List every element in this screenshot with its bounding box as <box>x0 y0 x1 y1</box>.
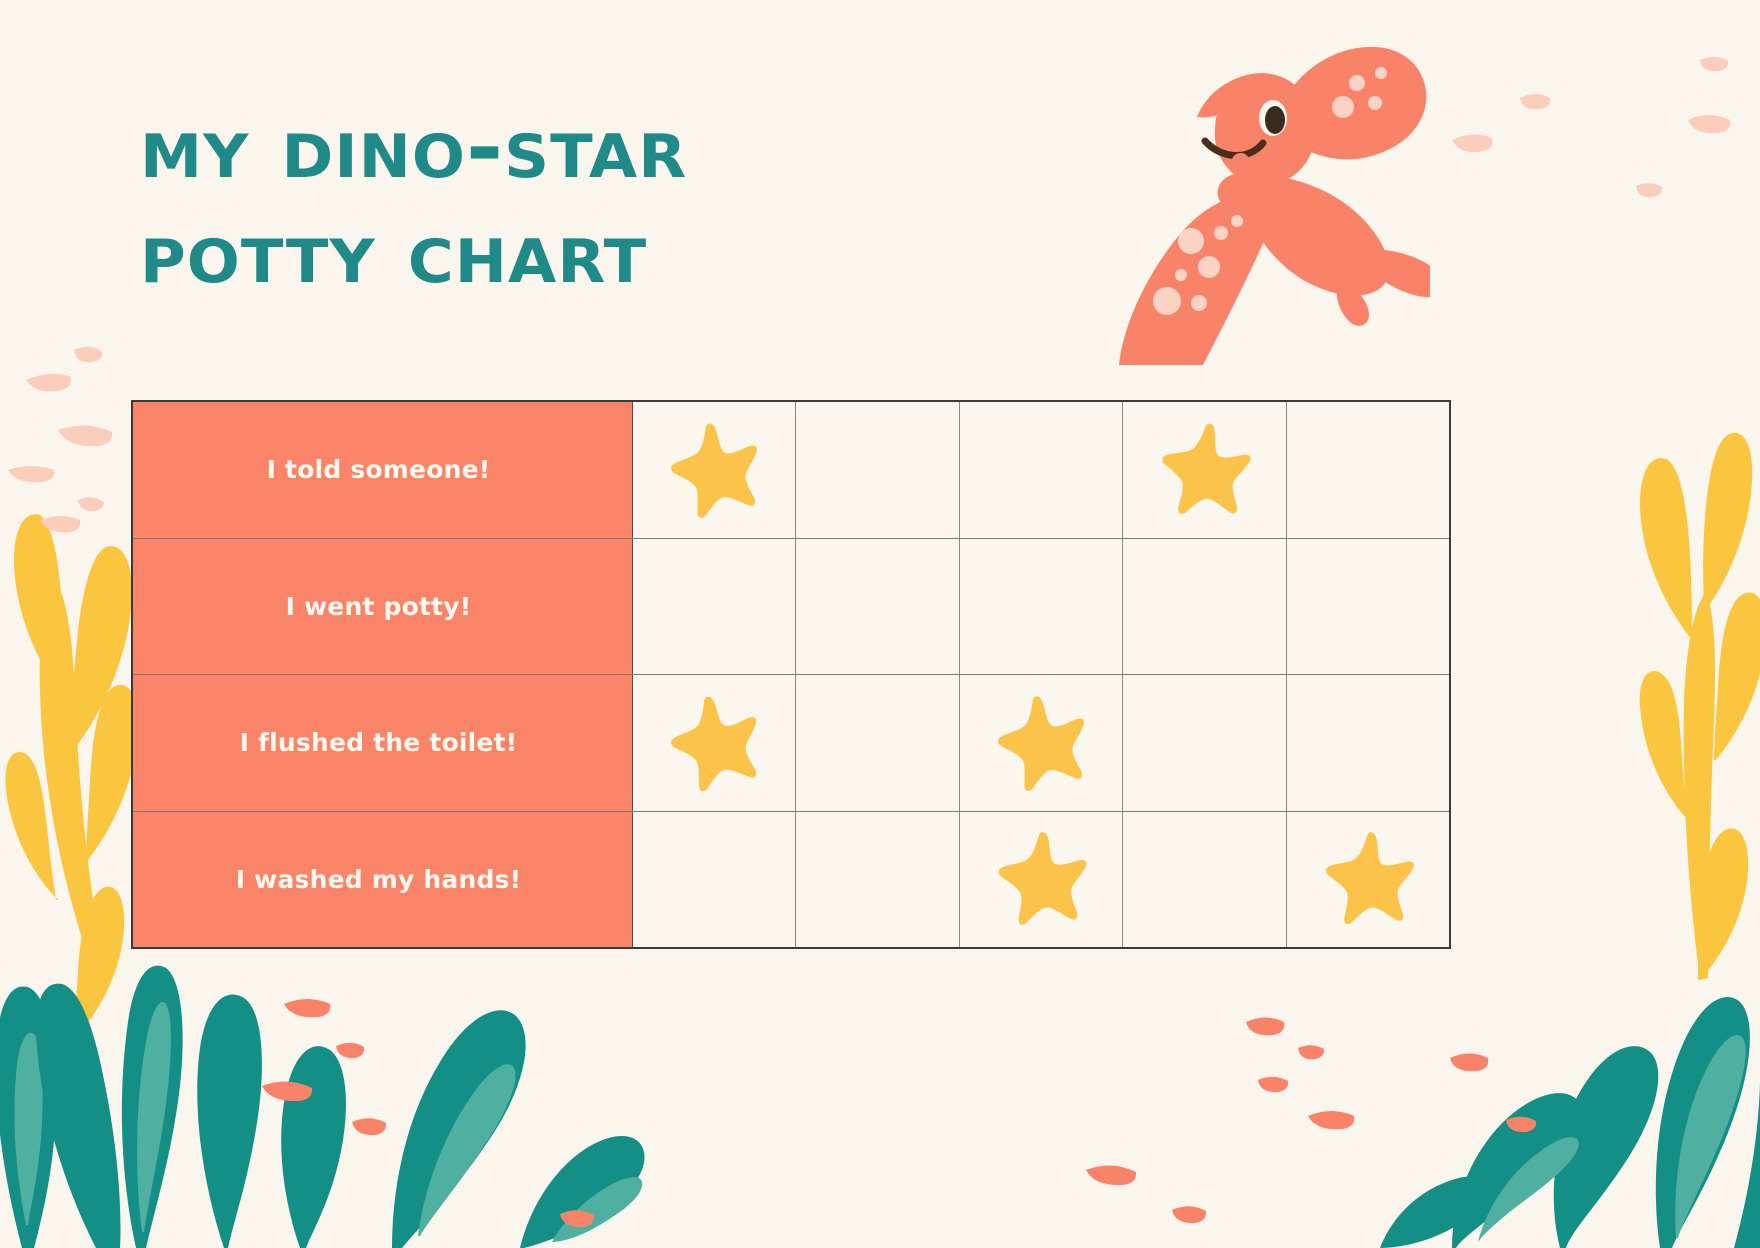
star-cell-filled[interactable] <box>633 675 796 811</box>
star-cell-empty[interactable] <box>796 675 959 811</box>
star-cell-filled[interactable] <box>960 675 1123 811</box>
star-icon <box>984 686 1098 800</box>
chart-row: I told someone! <box>133 402 1449 539</box>
star-icon <box>657 413 771 527</box>
star-icon <box>655 684 772 801</box>
chart-row: I washed my hands! <box>133 812 1449 948</box>
star-cell-empty[interactable] <box>1287 675 1449 811</box>
potty-chart-page: My Dino-Star Potty Chart I told someone!… <box>0 0 1760 1248</box>
star-icon <box>1312 824 1423 935</box>
potty-chart-table: I told someone! I went potty!I flushed t… <box>131 400 1451 949</box>
star-cell-empty[interactable] <box>1287 402 1449 538</box>
star-icon <box>987 825 1095 933</box>
star-cell-empty[interactable] <box>1123 539 1286 675</box>
row-label: I went potty! <box>133 539 633 675</box>
yellow-leaf-sprig-left <box>5 514 138 1040</box>
star-cell-empty[interactable] <box>796 812 959 948</box>
row-label: I flushed the toilet! <box>133 675 633 811</box>
star-cell-empty[interactable] <box>796 402 959 538</box>
star-cell-empty[interactable] <box>633 812 796 948</box>
star-cell-filled[interactable] <box>633 402 796 538</box>
star-cell-empty[interactable] <box>960 402 1123 538</box>
star-cell-empty[interactable] <box>960 539 1123 675</box>
star-cell-filled[interactable] <box>960 812 1123 948</box>
star-icon <box>1146 412 1262 528</box>
star-cell-filled[interactable] <box>1287 812 1449 948</box>
chart-row: I flushed the toilet! <box>133 675 1449 812</box>
star-cell-empty[interactable] <box>633 539 796 675</box>
teal-fronds-bottom-right <box>1380 997 1760 1248</box>
yellow-leaf-sprig-right <box>1640 433 1760 980</box>
row-label: I told someone! <box>133 402 633 538</box>
pterodactyl-icon <box>1085 35 1430 365</box>
title-line-1: My Dino-Star <box>140 96 1076 201</box>
star-cell-empty[interactable] <box>1123 812 1286 948</box>
chart-row: I went potty! <box>133 539 1449 676</box>
star-cell-filled[interactable] <box>1123 402 1286 538</box>
star-cell-empty[interactable] <box>1123 675 1286 811</box>
teal-fronds-bottom-left <box>0 966 645 1248</box>
star-cell-empty[interactable] <box>796 539 959 675</box>
title-line-2: Potty Chart <box>140 201 1076 306</box>
star-cell-empty[interactable] <box>1287 539 1449 675</box>
page-title: My Dino-Star Potty Chart <box>140 96 1040 306</box>
row-label: I washed my hands! <box>133 812 633 948</box>
